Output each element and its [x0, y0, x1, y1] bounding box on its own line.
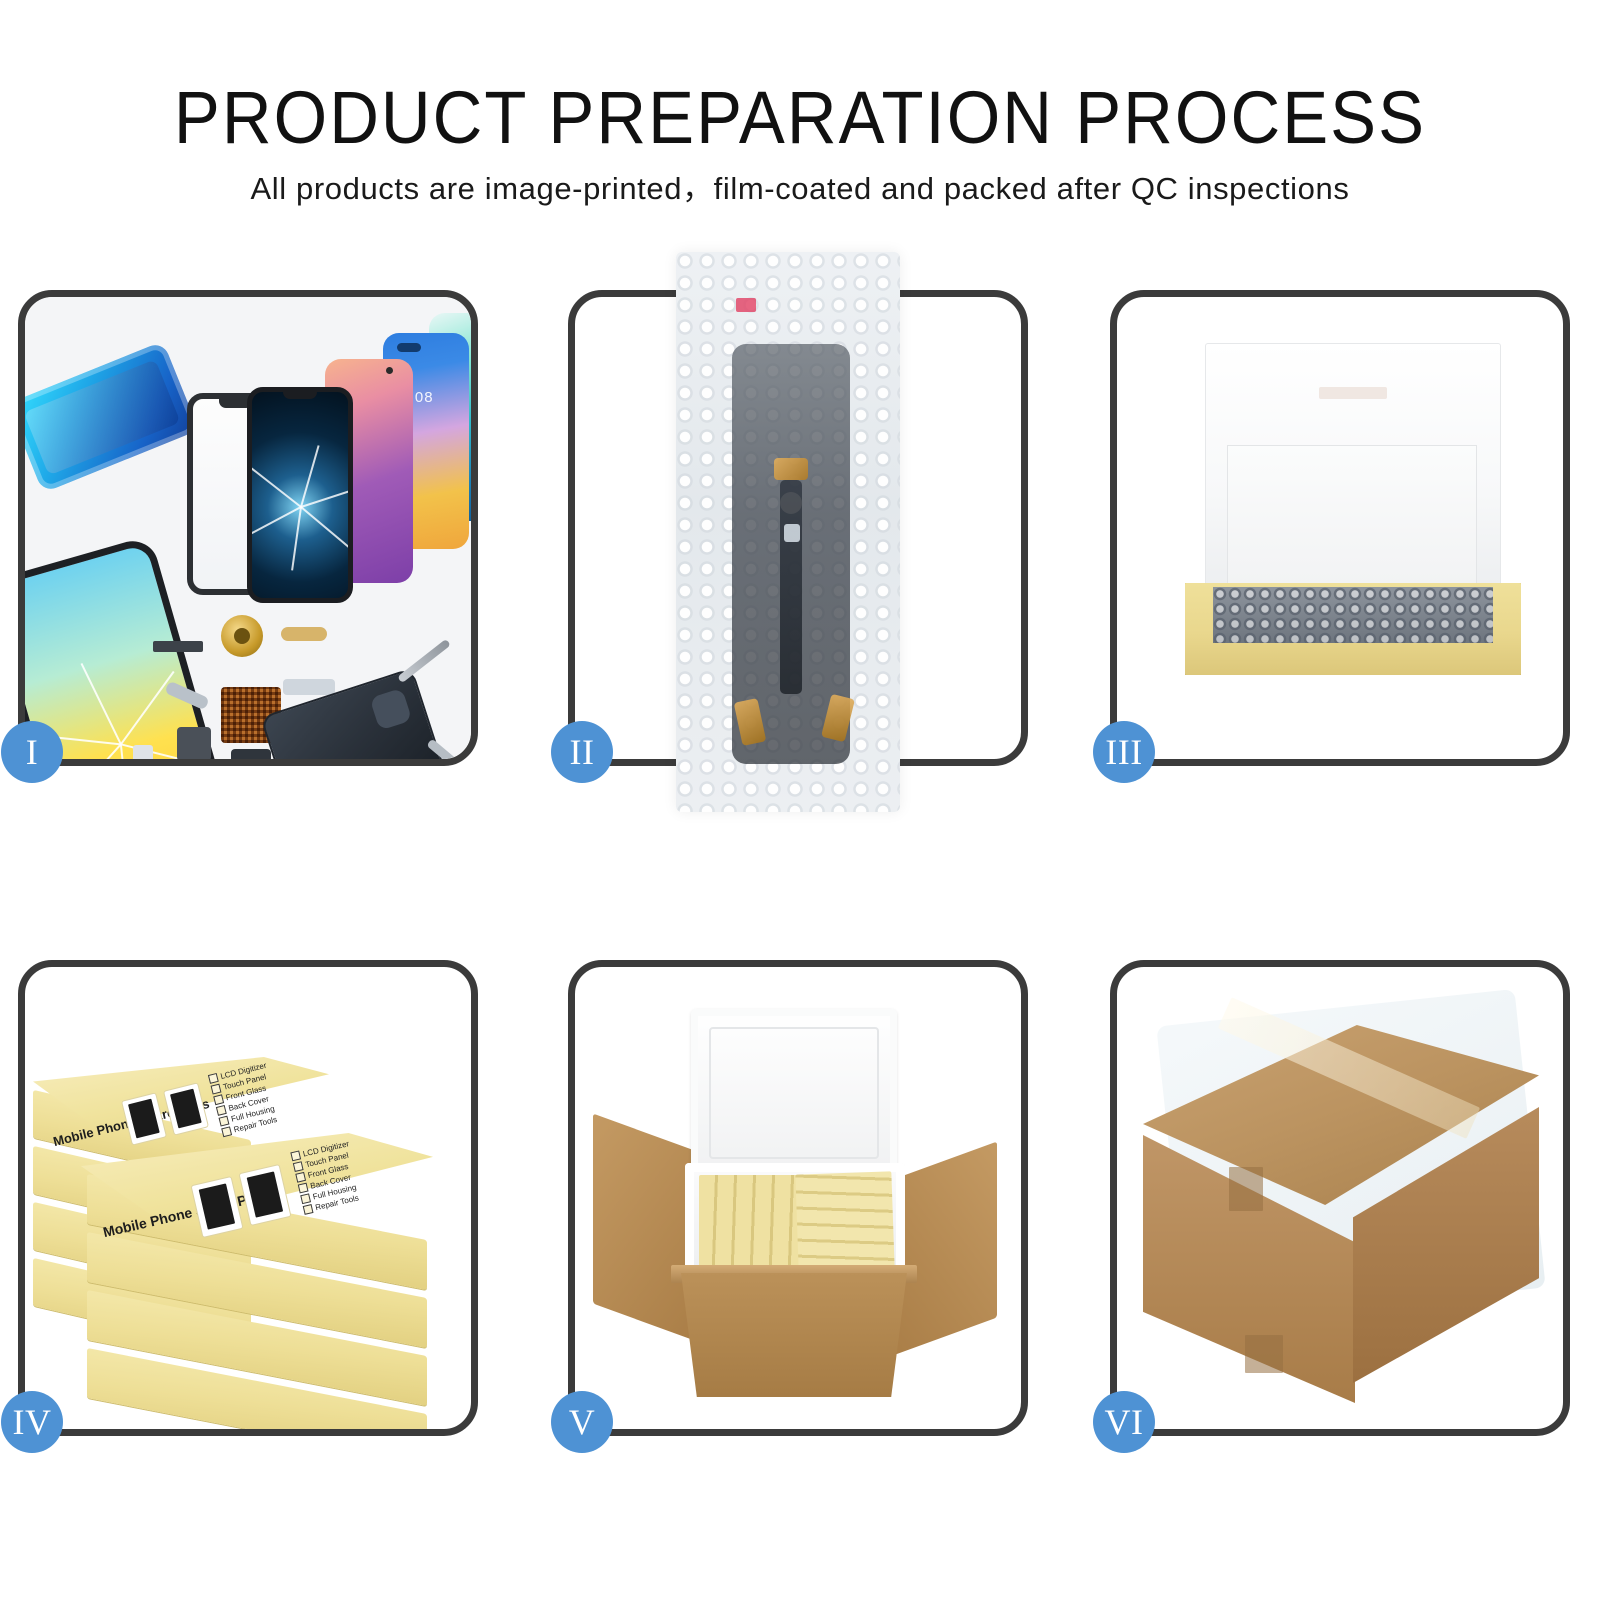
step-badge-4: IV: [1, 1391, 63, 1453]
box-stack-image: Mobile Phone Spare Parts LCD Digitizer T…: [29, 1011, 471, 1429]
step-panel-mailer-box[interactable]: III: [1110, 290, 1570, 766]
panel-image-parts-collection: 08:08: [25, 297, 471, 759]
wireless-charging-coil-image: [221, 615, 263, 657]
connector-part-image: [283, 679, 335, 695]
lid-tab-image: [1319, 387, 1387, 399]
flex-cable-part-image: [281, 627, 327, 641]
page-title: PRODUCT PREPARATION PROCESS: [56, 78, 1544, 158]
process-steps-grid: 08:08: [0, 240, 1600, 1600]
earpiece-part-image: [153, 641, 203, 652]
carton-front-wall-image: [681, 1273, 907, 1397]
cracked-screen-image: [247, 387, 353, 603]
page-subtitle: All products are image-printed，film-coat…: [0, 170, 1600, 208]
bubble-wrap-sleeve-image: [676, 252, 900, 812]
panel-image-mailer-box: [1117, 297, 1563, 759]
carton-tab-lower-image: [1245, 1335, 1283, 1373]
yellow-boxes-stack-image: [795, 1171, 894, 1270]
vibrator-part-image: [177, 727, 211, 759]
carton-tab-upper-image: [1229, 1167, 1263, 1211]
speaker-part-image: [231, 749, 271, 759]
step-badge-1: I: [1, 721, 63, 783]
flex-cable-strip-image: [780, 480, 802, 694]
step-panel-carton-with-foam[interactable]: V: [568, 960, 1028, 1436]
step-panel-bubble-wrapped-screen[interactable]: II: [568, 290, 1028, 766]
sim-eject-part-image: [133, 745, 153, 759]
board-connector-image: [784, 524, 800, 542]
red-label-tab-image: [736, 298, 756, 312]
styrofoam-lid-image: [691, 1009, 897, 1177]
panel-image-stacked-boxes: Mobile Phone Spare Parts LCD Digitizer T…: [25, 967, 471, 1429]
step-badge-6: VI: [1093, 1391, 1155, 1453]
step-panel-stacked-boxes[interactable]: Mobile Phone Spare Parts LCD Digitizer T…: [18, 960, 478, 1436]
panel-image-carton-with-foam: [575, 967, 1021, 1429]
gold-flex-connector-image: [774, 458, 808, 480]
step-panel-parts-collection[interactable]: 08:08: [18, 290, 478, 766]
panel-image-bubble-wrapped-screen: [568, 290, 1028, 766]
foam-sheet-image: [1227, 445, 1477, 585]
step-panel-sealed-carton[interactable]: VI: [1110, 960, 1570, 1436]
step-badge-5: V: [551, 1391, 613, 1453]
bubble-wrap-inside-box-image: [1213, 587, 1493, 643]
step-badge-2: II: [551, 721, 613, 783]
step-badge-3: III: [1093, 721, 1155, 783]
page-header: PRODUCT PREPARATION PROCESS All products…: [0, 0, 1600, 240]
panel-image-sealed-carton: [1117, 967, 1563, 1429]
